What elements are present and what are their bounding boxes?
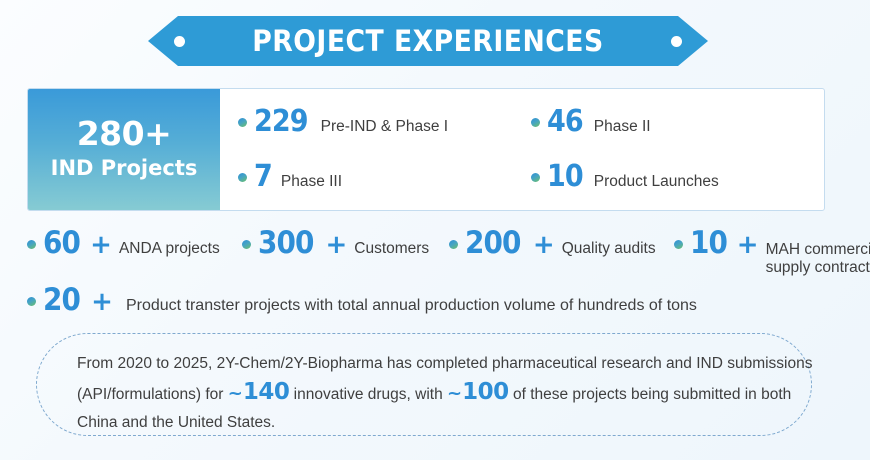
banner-dot-left-icon bbox=[174, 36, 185, 47]
stat-label: MAH commercial supply contracts bbox=[766, 241, 870, 277]
bullet-icon bbox=[27, 240, 36, 249]
stat-item-pre-ind: 229 Pre-IND & Phase I bbox=[238, 107, 531, 137]
ind-projects-label: IND Projects bbox=[51, 155, 198, 182]
stat-label: Phase III bbox=[281, 173, 342, 191]
bullet-icon bbox=[531, 173, 540, 182]
stat-label: Phase II bbox=[594, 118, 651, 136]
stat-item-phase-iii: 7 Phase III bbox=[238, 162, 531, 192]
card-stats-grid: 229 Pre-IND & Phase I 46 Phase II 7 Phas… bbox=[220, 89, 824, 210]
stat-number: 7 bbox=[254, 162, 272, 192]
page-header-banner: PROJECT EXPERIENCES bbox=[148, 16, 708, 66]
stat-label: Quality audits bbox=[562, 240, 656, 258]
stat-label: ANDA projects bbox=[119, 240, 220, 258]
stat-number: 60 bbox=[43, 228, 80, 259]
stat-item-quality-audits: 200 + Quality audits bbox=[449, 228, 655, 259]
stat-label: Product transter projects with total ann… bbox=[126, 297, 697, 315]
stats-card: 280+ IND Projects 229 Pre-IND & Phase I … bbox=[27, 88, 825, 211]
banner-shape: PROJECT EXPERIENCES bbox=[148, 16, 708, 66]
note-line-2-text-c: of these projects being submitted in bot… bbox=[513, 386, 791, 403]
stat-number: 10 bbox=[690, 228, 727, 259]
note-line-3: China and the United States. bbox=[77, 409, 771, 437]
note-tilde-2: ~ bbox=[447, 383, 462, 404]
stat-plus-sign: + bbox=[325, 232, 347, 258]
bullet-icon bbox=[531, 118, 540, 127]
bullet-icon bbox=[238, 118, 247, 127]
stat-label: Customers bbox=[354, 240, 429, 258]
stat-item-product-launches: 10 Product Launches bbox=[531, 162, 824, 192]
note-line-2: (API/formulations) for ~140 innovative d… bbox=[77, 378, 771, 409]
stat-item-phase-ii: 46 Phase II bbox=[531, 107, 824, 137]
note-line-2-text-a: (API/formulations) for bbox=[77, 386, 223, 403]
note-line-1: From 2020 to 2025, 2Y-Chem/2Y-Biopharma … bbox=[77, 350, 771, 378]
bullet-icon bbox=[27, 297, 36, 306]
ind-projects-highlight: 280+ IND Projects bbox=[28, 89, 220, 210]
stat-plus-sign: + bbox=[737, 232, 759, 258]
bullet-icon bbox=[674, 240, 683, 249]
bullet-icon bbox=[242, 240, 251, 249]
stat-label: Product Launches bbox=[594, 173, 719, 191]
stat-number: 200 bbox=[465, 228, 521, 259]
summary-note-box: From 2020 to 2025, 2Y-Chem/2Y-Biopharma … bbox=[36, 333, 812, 436]
stat-item-anda-projects: 60 + ANDA projects bbox=[27, 228, 220, 259]
stat-plus-sign: + bbox=[533, 232, 555, 258]
bullet-icon bbox=[449, 240, 458, 249]
note-line-1-text: From 2020 to 2025, 2Y-Chem/2Y-Biopharma … bbox=[77, 355, 813, 372]
stat-number: 229 bbox=[254, 107, 308, 137]
stat-plus-sign: + bbox=[91, 289, 113, 315]
page-title: PROJECT EXPERIENCES bbox=[252, 24, 603, 58]
note-line-3-text: China and the United States. bbox=[77, 414, 275, 431]
stat-item-product-transfer: 20 + Product transter projects with tota… bbox=[27, 285, 697, 316]
note-line-2-text-b: innovative drugs, with bbox=[294, 386, 443, 403]
stat-label: Pre-IND & Phase I bbox=[321, 118, 449, 136]
stat-item-customers: 300 + Customers bbox=[242, 228, 429, 259]
bullet-icon bbox=[238, 173, 247, 182]
stat-item-mah-contracts: 10 + MAH commercial supply contracts bbox=[674, 228, 870, 276]
note-highlight-140: 140 bbox=[243, 379, 290, 405]
stat-number: 20 bbox=[43, 285, 80, 316]
banner-dot-right-icon bbox=[671, 36, 682, 47]
stat-number: 46 bbox=[547, 107, 583, 137]
stat-plus-sign: + bbox=[90, 232, 112, 258]
secondary-stats-row: 60 + ANDA projects 300 + Customers 200 +… bbox=[27, 228, 847, 276]
note-tilde-1: ~ bbox=[228, 383, 243, 404]
stat-number: 300 bbox=[258, 228, 314, 259]
ind-projects-number: 280+ bbox=[77, 117, 172, 152]
stat-number: 10 bbox=[547, 162, 583, 192]
note-highlight-100: 100 bbox=[462, 379, 509, 405]
